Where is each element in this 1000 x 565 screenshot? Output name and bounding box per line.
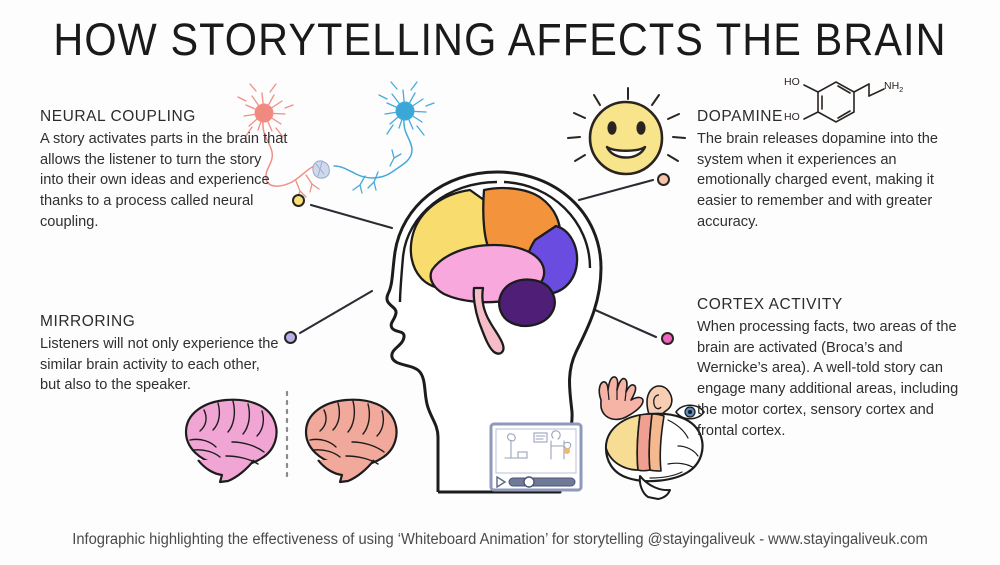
connector-lines xyxy=(300,180,656,337)
head-outline-right xyxy=(438,172,601,492)
footer-credit: Infographic highlighting the effectivene… xyxy=(25,531,975,549)
video-controls xyxy=(497,477,575,487)
head-brain-illustration xyxy=(387,172,601,492)
cortex-brain-folds xyxy=(650,420,698,478)
section-neural-coupling: NEURAL COUPLING A story activates parts … xyxy=(40,108,288,233)
connector-cortex xyxy=(584,305,656,337)
neuron-right-icon xyxy=(313,82,434,193)
brain-lobe-parietal xyxy=(483,188,560,264)
mirror-brain-right xyxy=(306,400,397,482)
skull-inner-line xyxy=(400,182,590,302)
progress-bar xyxy=(509,478,575,486)
molecule-amine-subscript: 2 xyxy=(899,85,903,94)
mirroring-body: Listeners will not only experience the s… xyxy=(40,334,280,396)
smiley-face-circle xyxy=(590,102,662,174)
video-player-icon[interactable] xyxy=(491,424,581,490)
smiley-rays-icon xyxy=(568,88,685,161)
molecule-label-amine: NH2 xyxy=(884,80,903,94)
progress-handle xyxy=(524,477,534,487)
brain-lobe-temporal xyxy=(431,245,544,302)
mirroring-heading: MIRRORING xyxy=(40,313,280,331)
cortex-frontal-region xyxy=(606,415,640,470)
cortex-brain-body xyxy=(606,414,703,481)
infographic-canvas: HOW STORYTELLING AFFECTS THE BRAIN xyxy=(0,0,1000,565)
cortex-activity-body: When processing facts, two areas of the … xyxy=(697,317,965,441)
dopamine-heading: DOPAMINE xyxy=(697,108,965,126)
cortex-brainstem xyxy=(640,476,670,499)
section-cortex-activity: CORTEX ACTIVITY When processing facts, t… xyxy=(697,296,965,441)
page-title: HOW STORYTELLING AFFECTS THE BRAIN xyxy=(40,14,960,66)
mirroring-brains-illustration xyxy=(186,392,397,482)
neural-coupling-body: A story activates parts in the brain tha… xyxy=(40,129,288,233)
marker-dot-cortex-activity[interactable] xyxy=(661,332,674,345)
marker-dot-neural-coupling[interactable] xyxy=(292,194,305,207)
marker-dot-dopamine[interactable] xyxy=(657,173,670,186)
cortex-motor-strip xyxy=(637,414,652,471)
connector-neural xyxy=(311,205,392,228)
section-dopamine: DOPAMINE The brain releases dopamine int… xyxy=(697,108,965,233)
mirror-brain-left xyxy=(186,400,277,482)
neural-coupling-heading: NEURAL COUPLING xyxy=(40,108,288,126)
video-frame xyxy=(491,424,581,490)
smiley-face-icon xyxy=(568,88,685,174)
illustration-layer xyxy=(0,0,1000,565)
brain-cerebellum xyxy=(499,280,555,326)
section-mirroring: MIRRORING Listeners will not only experi… xyxy=(40,313,280,396)
cortex-brain-illustration xyxy=(599,377,704,499)
brain-lobe-occipital xyxy=(525,226,577,294)
connector-dopamine xyxy=(579,180,653,200)
molecule-amine-text: NH xyxy=(884,80,899,92)
molecule-label-ho-top: HO xyxy=(784,76,800,88)
smiley-eye-right xyxy=(636,121,645,135)
video-screen xyxy=(496,429,576,473)
video-sketch xyxy=(505,431,571,459)
marker-dot-mirroring[interactable] xyxy=(284,331,297,344)
ear-icon xyxy=(647,386,672,428)
cortex-activity-heading: CORTEX ACTIVITY xyxy=(697,296,965,314)
smiley-eye-left xyxy=(607,121,616,135)
cortex-sensory-strip xyxy=(649,414,664,471)
smiley-mouth xyxy=(607,147,645,158)
head-outline-left xyxy=(387,172,497,492)
molecule-label-ho-bottom: HO xyxy=(784,111,800,123)
hand-icon xyxy=(599,377,643,420)
connector-mirroring xyxy=(300,291,372,333)
brain-stem xyxy=(474,288,504,354)
play-button-icon xyxy=(497,477,505,487)
dopamine-body: The brain releases dopamine into the sys… xyxy=(697,129,965,233)
brain-lobe-frontal xyxy=(411,190,492,290)
